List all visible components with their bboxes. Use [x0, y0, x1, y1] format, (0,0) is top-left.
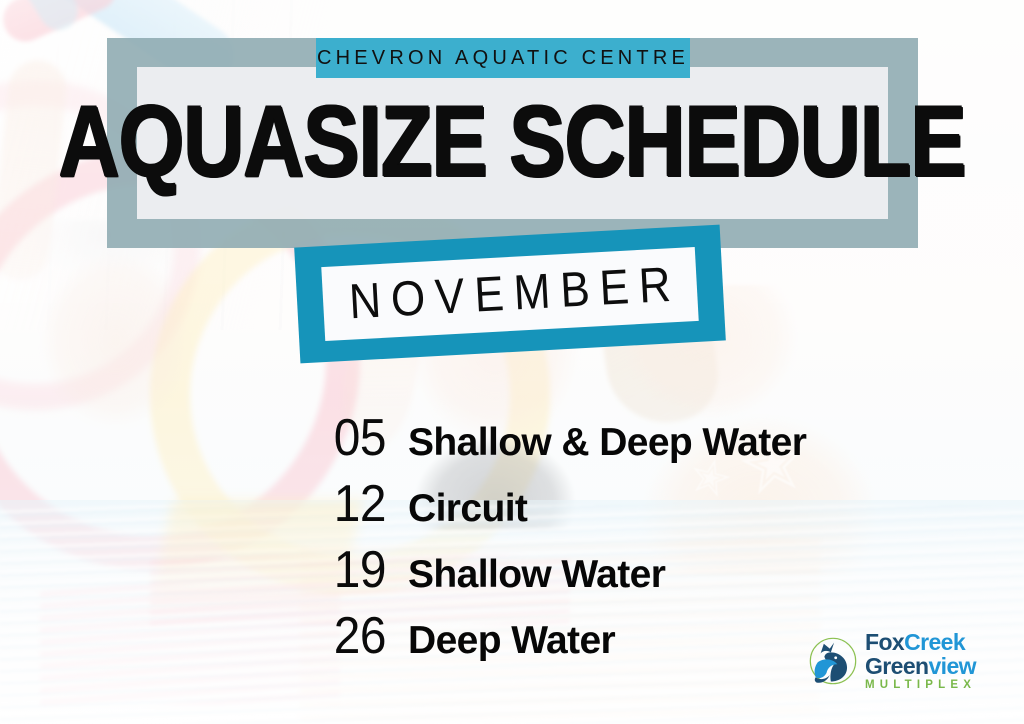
month-panel: NOVEMBER [321, 247, 698, 341]
schedule-class: Circuit [408, 489, 527, 528]
schedule-row: 19 Shallow Water [312, 544, 912, 610]
month-banner: NOVEMBER [294, 225, 726, 364]
month-label: NOVEMBER [338, 257, 682, 331]
logo-creek: Creek [904, 629, 965, 655]
organization-name: CHEVRON AQUATIC CENTRE [317, 47, 689, 70]
schedule-date: 05 [318, 412, 386, 464]
logo-line-2: Greenview [865, 655, 976, 678]
fox-head-wave-circle-icon [806, 634, 860, 688]
schedule-date: 26 [318, 610, 386, 662]
page-title: AQUASIZE SCHEDULE [59, 93, 966, 193]
schedule-date: 19 [318, 544, 386, 596]
aquasize-schedule-poster: ✭ ✭ AQUASIZE SCHEDULE CHEVRON AQUATIC CE… [0, 0, 1024, 724]
logo-view: view [928, 653, 975, 679]
title-panel: AQUASIZE SCHEDULE [137, 67, 888, 219]
logo-wordmark: FoxCreek Greenview MULTIPLEX [865, 631, 976, 692]
logo-fox: Fox [865, 629, 904, 655]
organization-badge: CHEVRON AQUATIC CENTRE [316, 38, 690, 78]
logo-green: Green [865, 653, 928, 679]
schedule-class: Shallow & Deep Water [408, 423, 806, 462]
logo-line-1: FoxCreek [865, 631, 976, 654]
schedule-class: Deep Water [408, 621, 615, 660]
logo-multiplex: MULTIPLEX [865, 680, 976, 692]
schedule-row: 12 Circuit [312, 478, 912, 544]
foxcreek-greenview-multiplex-logo: FoxCreek Greenview MULTIPLEX [806, 630, 996, 692]
schedule-date: 12 [318, 478, 386, 530]
schedule-class: Shallow Water [408, 555, 665, 594]
schedule-row: 05 Shallow & Deep Water [312, 412, 912, 478]
